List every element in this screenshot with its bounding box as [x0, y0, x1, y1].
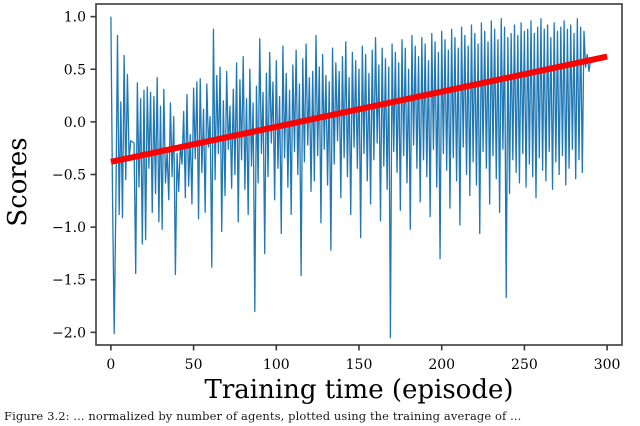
y-axis-label: Scores: [3, 137, 33, 226]
svg-text:300: 300: [594, 357, 621, 373]
svg-text:0.0: 0.0: [64, 115, 86, 131]
svg-text:−0.5: −0.5: [52, 168, 86, 184]
svg-text:0: 0: [106, 357, 115, 373]
svg-text:0.5: 0.5: [64, 62, 86, 78]
svg-text:−2.0: −2.0: [52, 325, 86, 341]
svg-text:−1.0: −1.0: [52, 220, 86, 236]
svg-text:50: 50: [185, 357, 203, 373]
svg-text:150: 150: [346, 357, 373, 373]
svg-text:−1.5: −1.5: [52, 273, 86, 289]
svg-text:200: 200: [428, 357, 455, 373]
svg-text:250: 250: [511, 357, 538, 373]
svg-text:1.0: 1.0: [64, 10, 86, 26]
scores-vs-training-time-chart: 0501001502002503001.00.50.0−0.5−1.0−1.5−…: [0, 0, 640, 426]
figure-caption-strip: Figure 3.2: ... normalized by number of …: [0, 411, 640, 426]
figure-caption: Figure 3.2: ... normalized by number of …: [4, 411, 521, 423]
x-axis-label: Training time (episode): [204, 375, 513, 405]
svg-text:100: 100: [263, 357, 290, 373]
figure-container: 0501001502002503001.00.50.0−0.5−1.0−1.5−…: [0, 0, 640, 426]
